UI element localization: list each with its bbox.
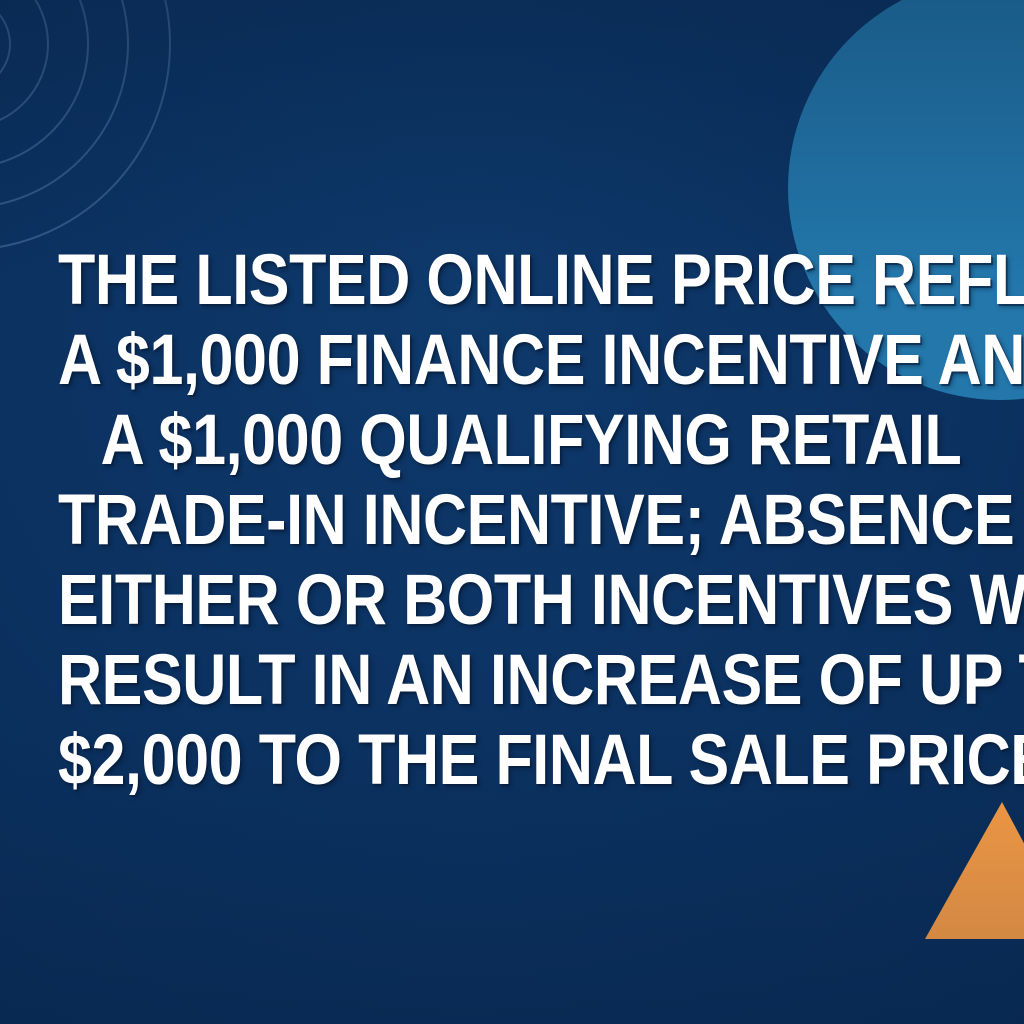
headline-line-3: A $1,000 QUALIFYING RETAIL xyxy=(58,401,1004,481)
headline-line-5: EITHER OR BOTH INCENTIVES WILL xyxy=(58,561,1004,641)
disclaimer-graphic: THE LISTED ONLINE PRICE REFLECTS A $1,00… xyxy=(0,0,1024,1024)
headline-lines: THE LISTED ONLINE PRICE REFLECTS A $1,00… xyxy=(0,241,1024,801)
headline-line-7: $2,000 TO THE FINAL SALE PRICE. xyxy=(58,721,1004,801)
headline-line-1: THE LISTED ONLINE PRICE REFLECTS xyxy=(58,241,1004,321)
headline-line-2: A $1,000 FINANCE INCENTIVE AND xyxy=(58,321,1004,401)
headline-line-4: TRADE-IN INCENTIVE; ABSENCE OF xyxy=(58,481,1004,561)
headline-line-6: RESULT IN AN INCREASE OF UP TO xyxy=(58,641,1004,721)
headline-block: THE LISTED ONLINE PRICE REFLECTS A $1,00… xyxy=(0,0,1024,1024)
